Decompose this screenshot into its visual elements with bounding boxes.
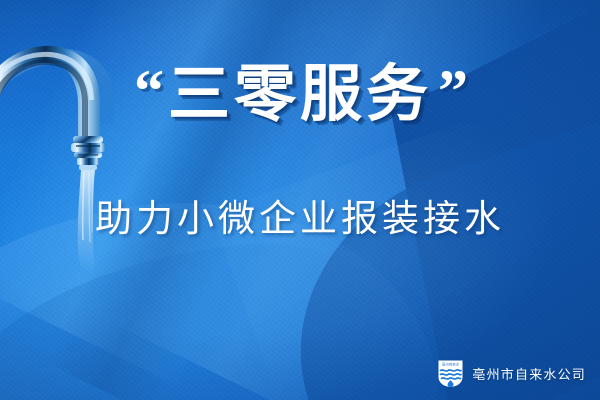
headline-row: “ 三零服务 ” [0,64,600,126]
quote-close-icon: ” [438,64,466,118]
company-name: 亳州市自来水公司 [472,364,586,383]
page-subtitle: 助力小微企业报装接水 [0,188,600,242]
brand-lockup: 亳州自来水 亳州市自来水公司 [437,359,586,388]
quote-open-icon: “ [134,64,162,118]
center-glow [211,101,600,400]
corner-wedge-bottom-right [255,104,600,400]
poster-canvas: “ 三零服务 ” 助力小微企业报装接水 亳州自来水 亳州市自来水公司 [0,0,600,400]
logo-caption-text: 亳州自来水 [442,362,460,367]
page-title: 三零服务 [168,64,432,126]
water-wave-shield-icon: 亳州自来水 [437,359,464,388]
